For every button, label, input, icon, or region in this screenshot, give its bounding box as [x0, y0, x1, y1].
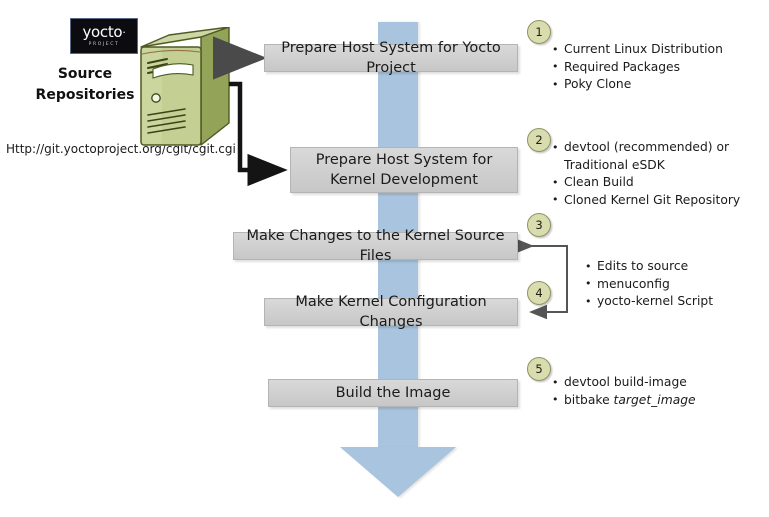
bitbake-command: bitbake [564, 393, 614, 407]
logo-subtitle: PROJECT [89, 41, 120, 48]
list-item: Poky Clone [552, 76, 762, 94]
box3-label: Make Changes to the Kernel Source Files [244, 226, 507, 266]
list-item: Cloned Kernel Git Repository [552, 192, 762, 210]
box1-label: Prepare Host System for Yocto Project [275, 38, 507, 78]
step-1-bullet-list: Current Linux Distribution Required Pack… [552, 41, 762, 94]
list-item: yocto-kernel Script [585, 293, 769, 311]
step-2-bullet-list: devtool (recommended) or Traditional eSD… [552, 139, 762, 209]
bitbake-target-arg: target_image [614, 393, 696, 407]
process-box-prepare-host-kernel[interactable]: Prepare Host System for Kernel Developme… [290, 147, 518, 193]
server-icon [139, 27, 231, 152]
diagram-canvas: yocto· PROJECT Source Repositories Http:… [0, 0, 769, 517]
list-item: devtool (recommended) or Traditional eSD… [552, 139, 762, 174]
step-number-4: 4 [527, 281, 551, 305]
step-number-1: 1 [527, 20, 551, 44]
process-box-make-config-changes[interactable]: Make Kernel Configuration Changes [264, 298, 518, 326]
box2-label: Prepare Host System for Kernel Developme… [301, 150, 507, 190]
source-label-line2: Repositories [22, 85, 148, 106]
source-repositories-label: Source Repositories [22, 64, 148, 106]
step-number-5: 5 [527, 357, 551, 381]
logo-dot: · [122, 26, 125, 39]
list-item: menuconfig [585, 276, 769, 294]
process-box-build-image[interactable]: Build the Image [268, 379, 518, 407]
list-item: bitbake target_image [552, 392, 762, 410]
list-item: devtool build-image [552, 374, 762, 392]
list-item: Required Packages [552, 59, 762, 77]
box5-label: Build the Image [336, 383, 451, 403]
process-box-make-source-changes[interactable]: Make Changes to the Kernel Source Files [233, 232, 518, 260]
list-item: Edits to source [585, 258, 769, 276]
step-number-2: 2 [527, 128, 551, 152]
step-5-bullet-list: devtool build-image bitbake target_image [552, 374, 762, 409]
logo-wordmark: yocto [82, 23, 122, 41]
yocto-project-logo: yocto· PROJECT [70, 18, 138, 54]
source-label-line1: Source [22, 64, 148, 85]
box4-label: Make Kernel Configuration Changes [275, 292, 507, 332]
step-number-3: 3 [527, 213, 551, 237]
workflow-spine-arrowhead [340, 447, 456, 497]
list-item: Clean Build [552, 174, 762, 192]
list-item: Current Linux Distribution [552, 41, 762, 59]
process-box-prepare-host-yocto[interactable]: Prepare Host System for Yocto Project [264, 44, 518, 72]
steps-3-4-bullet-list: Edits to source menuconfig yocto-kernel … [585, 258, 769, 311]
